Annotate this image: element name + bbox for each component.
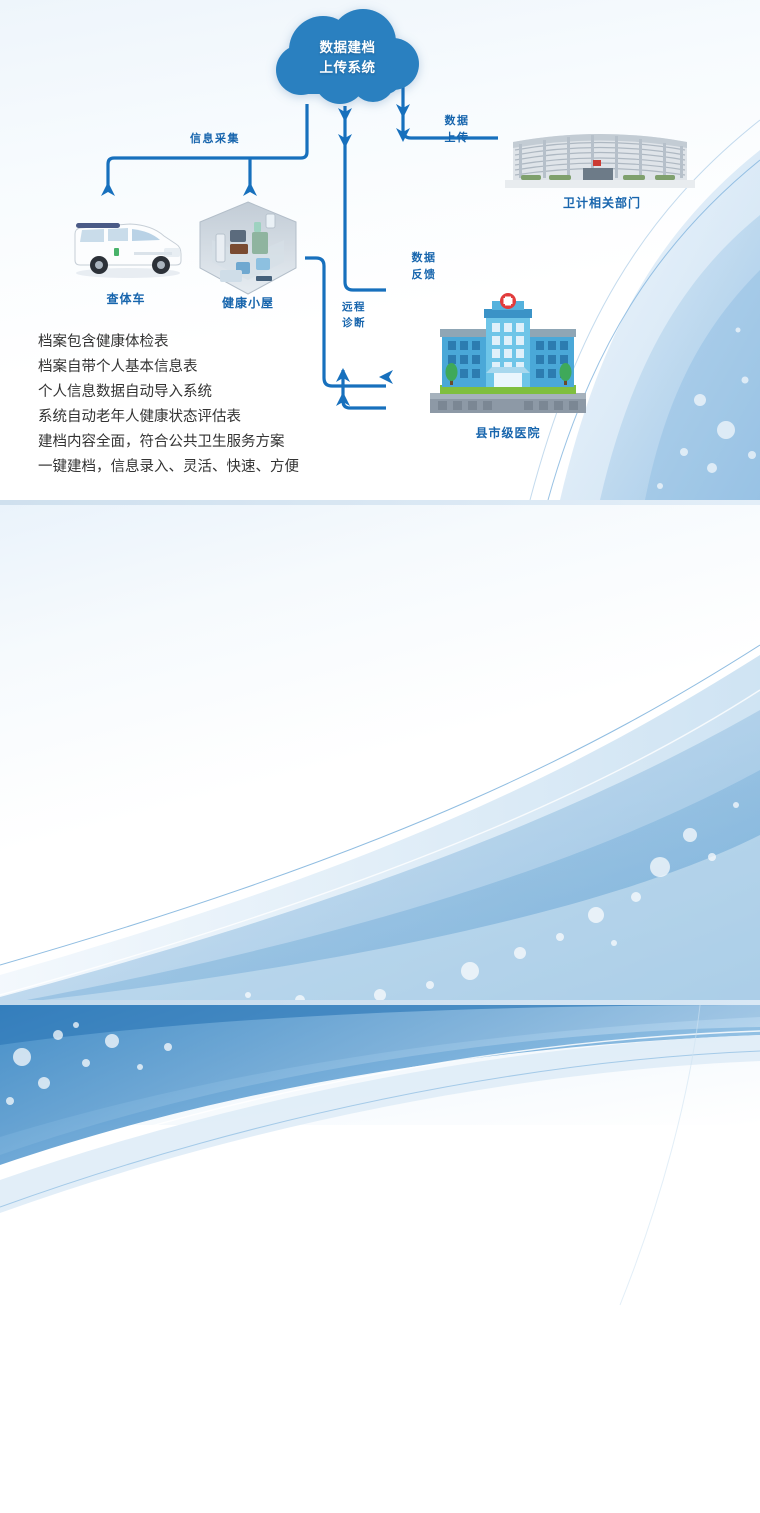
node-label-health-authority: 卫计相关部门 (537, 194, 667, 211)
cloud-line-1: 数据建档 (265, 38, 430, 58)
health-hut-illustration (192, 200, 304, 296)
section3-background-waves (0, 1005, 760, 1513)
cloud-node-upload-system: 数据建档 上传系统 (265, 8, 430, 108)
county-hospital-illustration (428, 293, 588, 418)
section-system-advantages: 系统优势 自助建档系统可支持多人同时建档，一天建档可高达500人次。 居民自助输… (0, 1005, 760, 1513)
flow-label-data-upload-line1: 数据 (435, 113, 479, 130)
health-authority-building-photo (505, 118, 695, 188)
node-label-medical-van: 查体车 (66, 290, 186, 307)
feature-line: 系统自动老年人健康状态评估表 (38, 405, 368, 430)
brochure-page: 数据建档 上传系统 信息采集 数据 上传 数据 反馈 远程 诊断 (0, 0, 760, 1513)
node-label-county-hospital: 县市级医院 (448, 424, 568, 441)
flow-label-info-collect: 信息采集 (165, 131, 265, 148)
flow-label-data-feedback-line2: 反馈 (402, 267, 446, 284)
feature-line: 一键建档，信息录入、灵活、快速、方便 (38, 455, 368, 480)
flow-label-remote-diagnosis: 远程 诊断 (333, 300, 375, 332)
feature-line: 个人信息数据自动导入系统 (38, 380, 368, 405)
feature-line: 档案自带个人基本信息表 (38, 355, 368, 380)
feature-line: 建档内容全面，符合公共卫生服务方案 (38, 430, 368, 455)
flow-label-remote-diagnosis-line1: 远程 (333, 300, 375, 316)
flow-label-data-upload-line2: 上传 (435, 130, 479, 147)
medical-van-illustration (68, 208, 186, 280)
node-label-health-hut: 健康小屋 (188, 294, 308, 311)
flow-label-data-feedback-line1: 数据 (402, 250, 446, 267)
cloud-line-2: 上传系统 (265, 58, 430, 78)
flow-label-data-feedback: 数据 反馈 (402, 250, 446, 283)
archive-feature-list: 档案包含健康体检表 档案自带个人基本信息表 个人信息数据自动导入系统 系统自动老… (38, 330, 368, 480)
flow-label-data-upload: 数据 上传 (435, 113, 479, 146)
section-data-archiving-diagram: 数据建档 上传系统 信息采集 数据 上传 数据 反馈 远程 诊断 (0, 0, 760, 500)
section2-background-waves (0, 505, 760, 1005)
section-self-service-archiving: 自助建档 身份证自助一键建档。 健康体检报告自助打印与查询。 健康数据存储、统计… (0, 505, 760, 1005)
feature-line: 档案包含健康体检表 (38, 330, 368, 355)
cloud-label: 数据建档 上传系统 (265, 38, 430, 77)
